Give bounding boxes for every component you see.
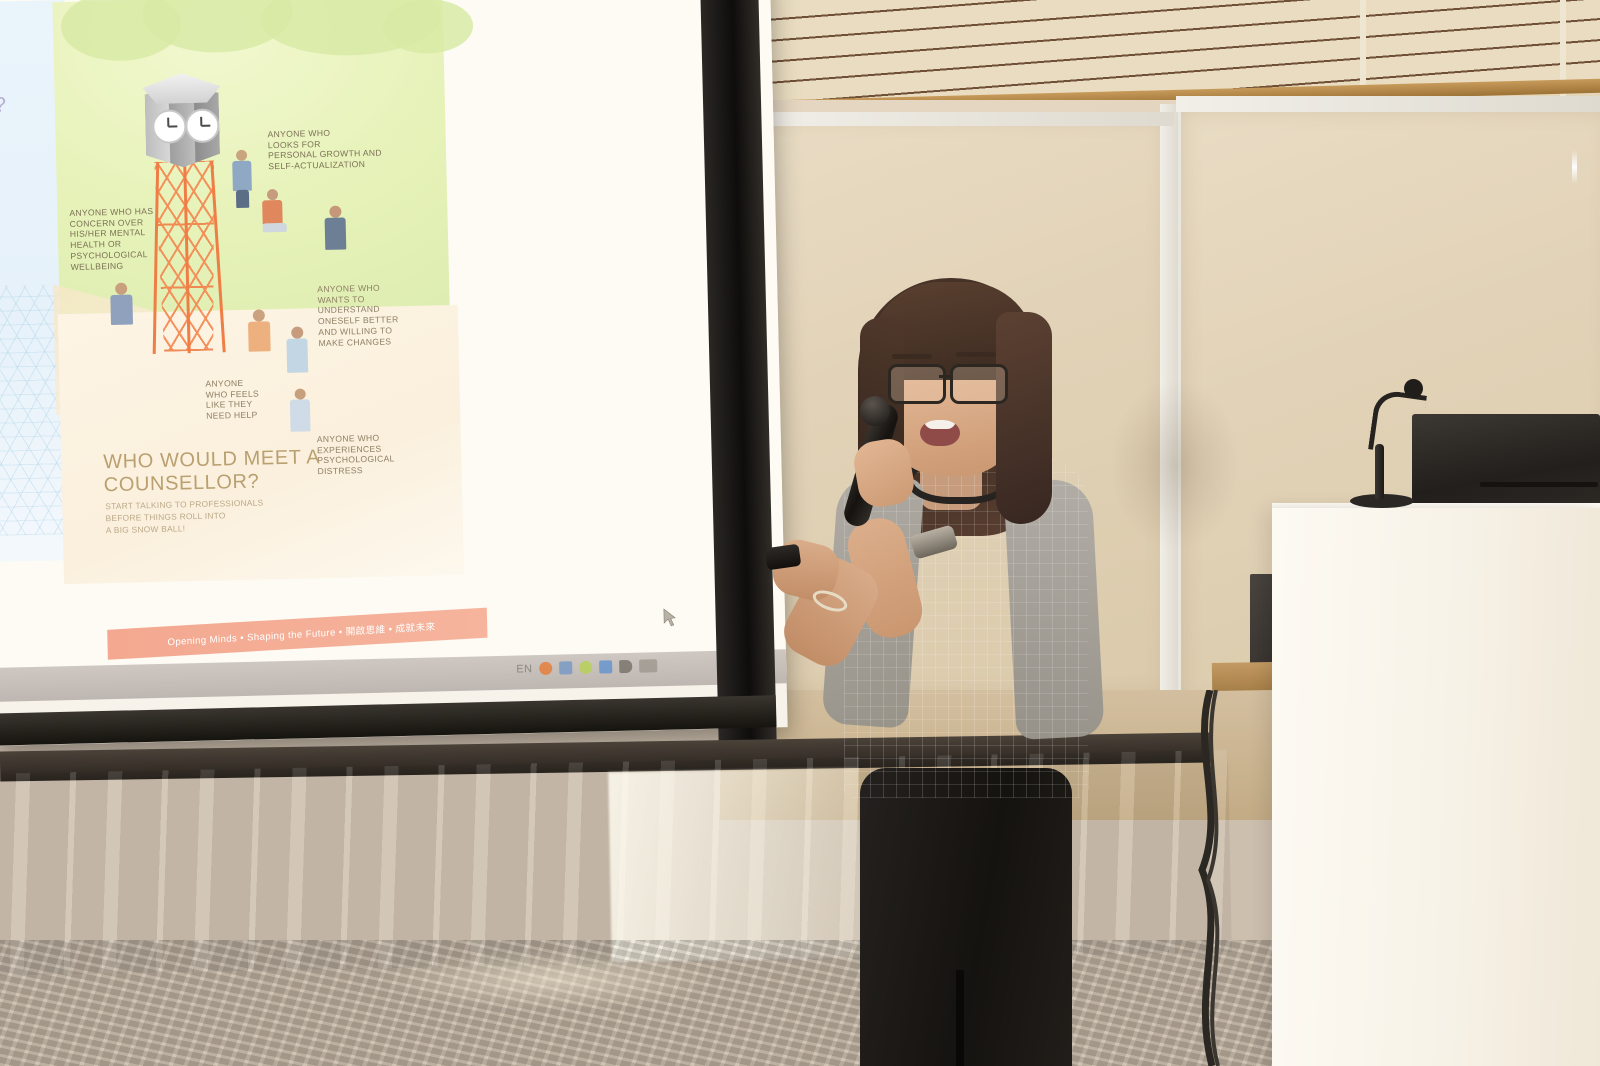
slide-cutoff-headline: DO? [0,93,7,118]
slide-callout-needs-help: ANYONE WHO FEELS LIKE THEY NEED HELP [205,376,306,421]
display-settings-icon[interactable] [599,660,612,673]
slide-footer-text: Opening Minds • Shaping the Future • 開啟思… [167,619,435,649]
mouse-cursor [663,608,676,627]
screenshot-root: ANYONE WHO HAS CONCERN OVER HIS/HER MENT… [0,0,1600,1066]
keyboard-layout-icon[interactable] [639,659,657,672]
slide-heading: WHO WOULD MEET A COUNSELLOR? [103,444,404,497]
floor-light-reflection [380,950,720,1010]
presenter-eyebrow-right [956,352,996,357]
projection-screen[interactable]: ANYONE WHO HAS CONCERN OVER HIS/HER MENT… [0,0,788,746]
slat-panel-divider-left [1360,0,1366,96]
presenter-trouser-seam [956,970,964,1066]
gooseneck-mic-stem [1375,444,1384,500]
antivirus-shield-icon[interactable] [579,661,592,674]
gooseneck-mic-capsule [1404,379,1423,398]
podium-monitor[interactable] [1412,414,1600,514]
slide-footer-ribbon: Opening Minds • Shaping the Future • 開啟思… [107,608,487,660]
presenter-hair-side-right [996,312,1052,524]
cable-bundle [1186,690,1232,1066]
browser-icon[interactable] [539,662,552,675]
presenter-eyebrow-left [892,354,932,359]
eyeglasses-lens-left [888,364,946,404]
lectern-podium [1272,508,1600,1066]
slide-subheading: START TALKING TO PROFESSIONALS BEFORE TH… [105,495,356,536]
slide-callout-mental-health: ANYONE WHO HAS CONCERN OVER HIS/HER MENT… [69,205,202,272]
volume-icon[interactable] [619,660,632,673]
tower-roof-cap [142,72,221,104]
glass-reflection-glint [1572,150,1577,184]
wireless-presenter-clicker[interactable] [765,544,802,571]
wall-panel-header-left [742,112,1174,126]
presentation-slide: ANYONE WHO HAS CONCERN OVER HIS/HER MENT… [0,0,787,702]
slide-callout-personal-growth: ANYONE WHO LOOKS FOR PERSONAL GROWTH AND… [267,126,418,172]
podium-monitor-slot [1480,482,1598,487]
presenter [760,270,1160,1066]
media-player-icon[interactable] [559,661,572,674]
eyeglasses-bridge [939,375,953,378]
wall-panel-header-right [1176,96,1600,112]
presenter-mouth-speaking [920,420,960,446]
eyeglasses-lens-right [950,364,1008,404]
taskbar-language-indicator[interactable]: EN [516,663,533,675]
presenter-trousers [860,768,1072,1066]
slide-callout-understand-oneself: ANYONE WHO WANTS TO UNDERSTAND ONESELF B… [317,281,438,348]
